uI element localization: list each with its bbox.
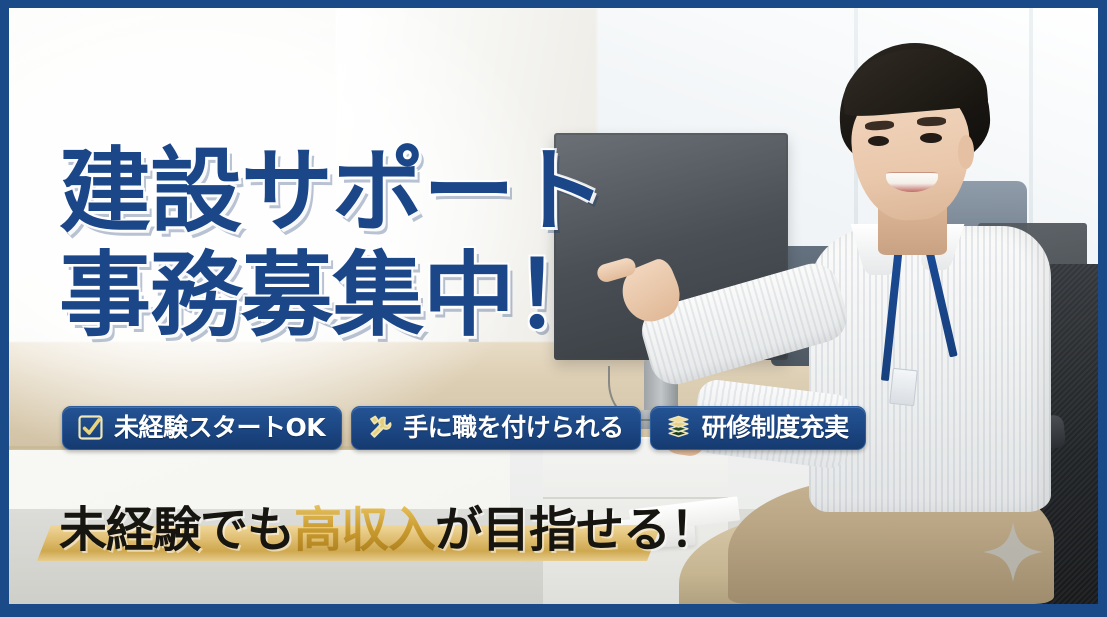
subheadline-suffix: が目指せる！ <box>435 502 717 558</box>
badge-inexperienced-ok[interactable]: 未経験スタートOK <box>62 406 342 450</box>
subheadline-text: 未経験でも高収入が目指せる！ <box>59 503 717 557</box>
page-title: 建設サポート 事務募集中！ <box>59 140 679 348</box>
badge-label: 研修制度充実 <box>702 415 849 441</box>
badge-label: 手に職を付けられる <box>403 415 624 441</box>
badge-gain-skills[interactable]: 手に職を付けられる <box>351 406 641 450</box>
feature-badge-row: 未経験スタートOK 手に職を付けられる <box>62 406 866 450</box>
headline-line-1: 建設サポート <box>59 140 679 244</box>
subheadline-highlight: 高収入 <box>294 502 435 558</box>
banner-stage: 建設サポート 事務募集中！ 未経験スタートOK <box>9 8 1098 604</box>
subheadline-prefix: 未経験でも <box>59 502 294 558</box>
hammer-wrench-icon <box>366 414 393 441</box>
badge-training-program[interactable]: 研修制度充実 <box>650 406 866 450</box>
headline-line-2: 事務募集中！ <box>59 244 679 348</box>
stacked-books-icon <box>665 414 692 441</box>
banner-content: 建設サポート 事務募集中！ 未経験スタートOK <box>9 8 1098 604</box>
recruitment-banner: 建設サポート 事務募集中！ 未経験スタートOK <box>0 0 1107 617</box>
checkbox-check-icon <box>77 414 104 441</box>
badge-label: 未経験スタートOK <box>114 415 325 441</box>
subheadline-ribbon: 未経験でも高収入が目指せる！ <box>37 503 677 565</box>
